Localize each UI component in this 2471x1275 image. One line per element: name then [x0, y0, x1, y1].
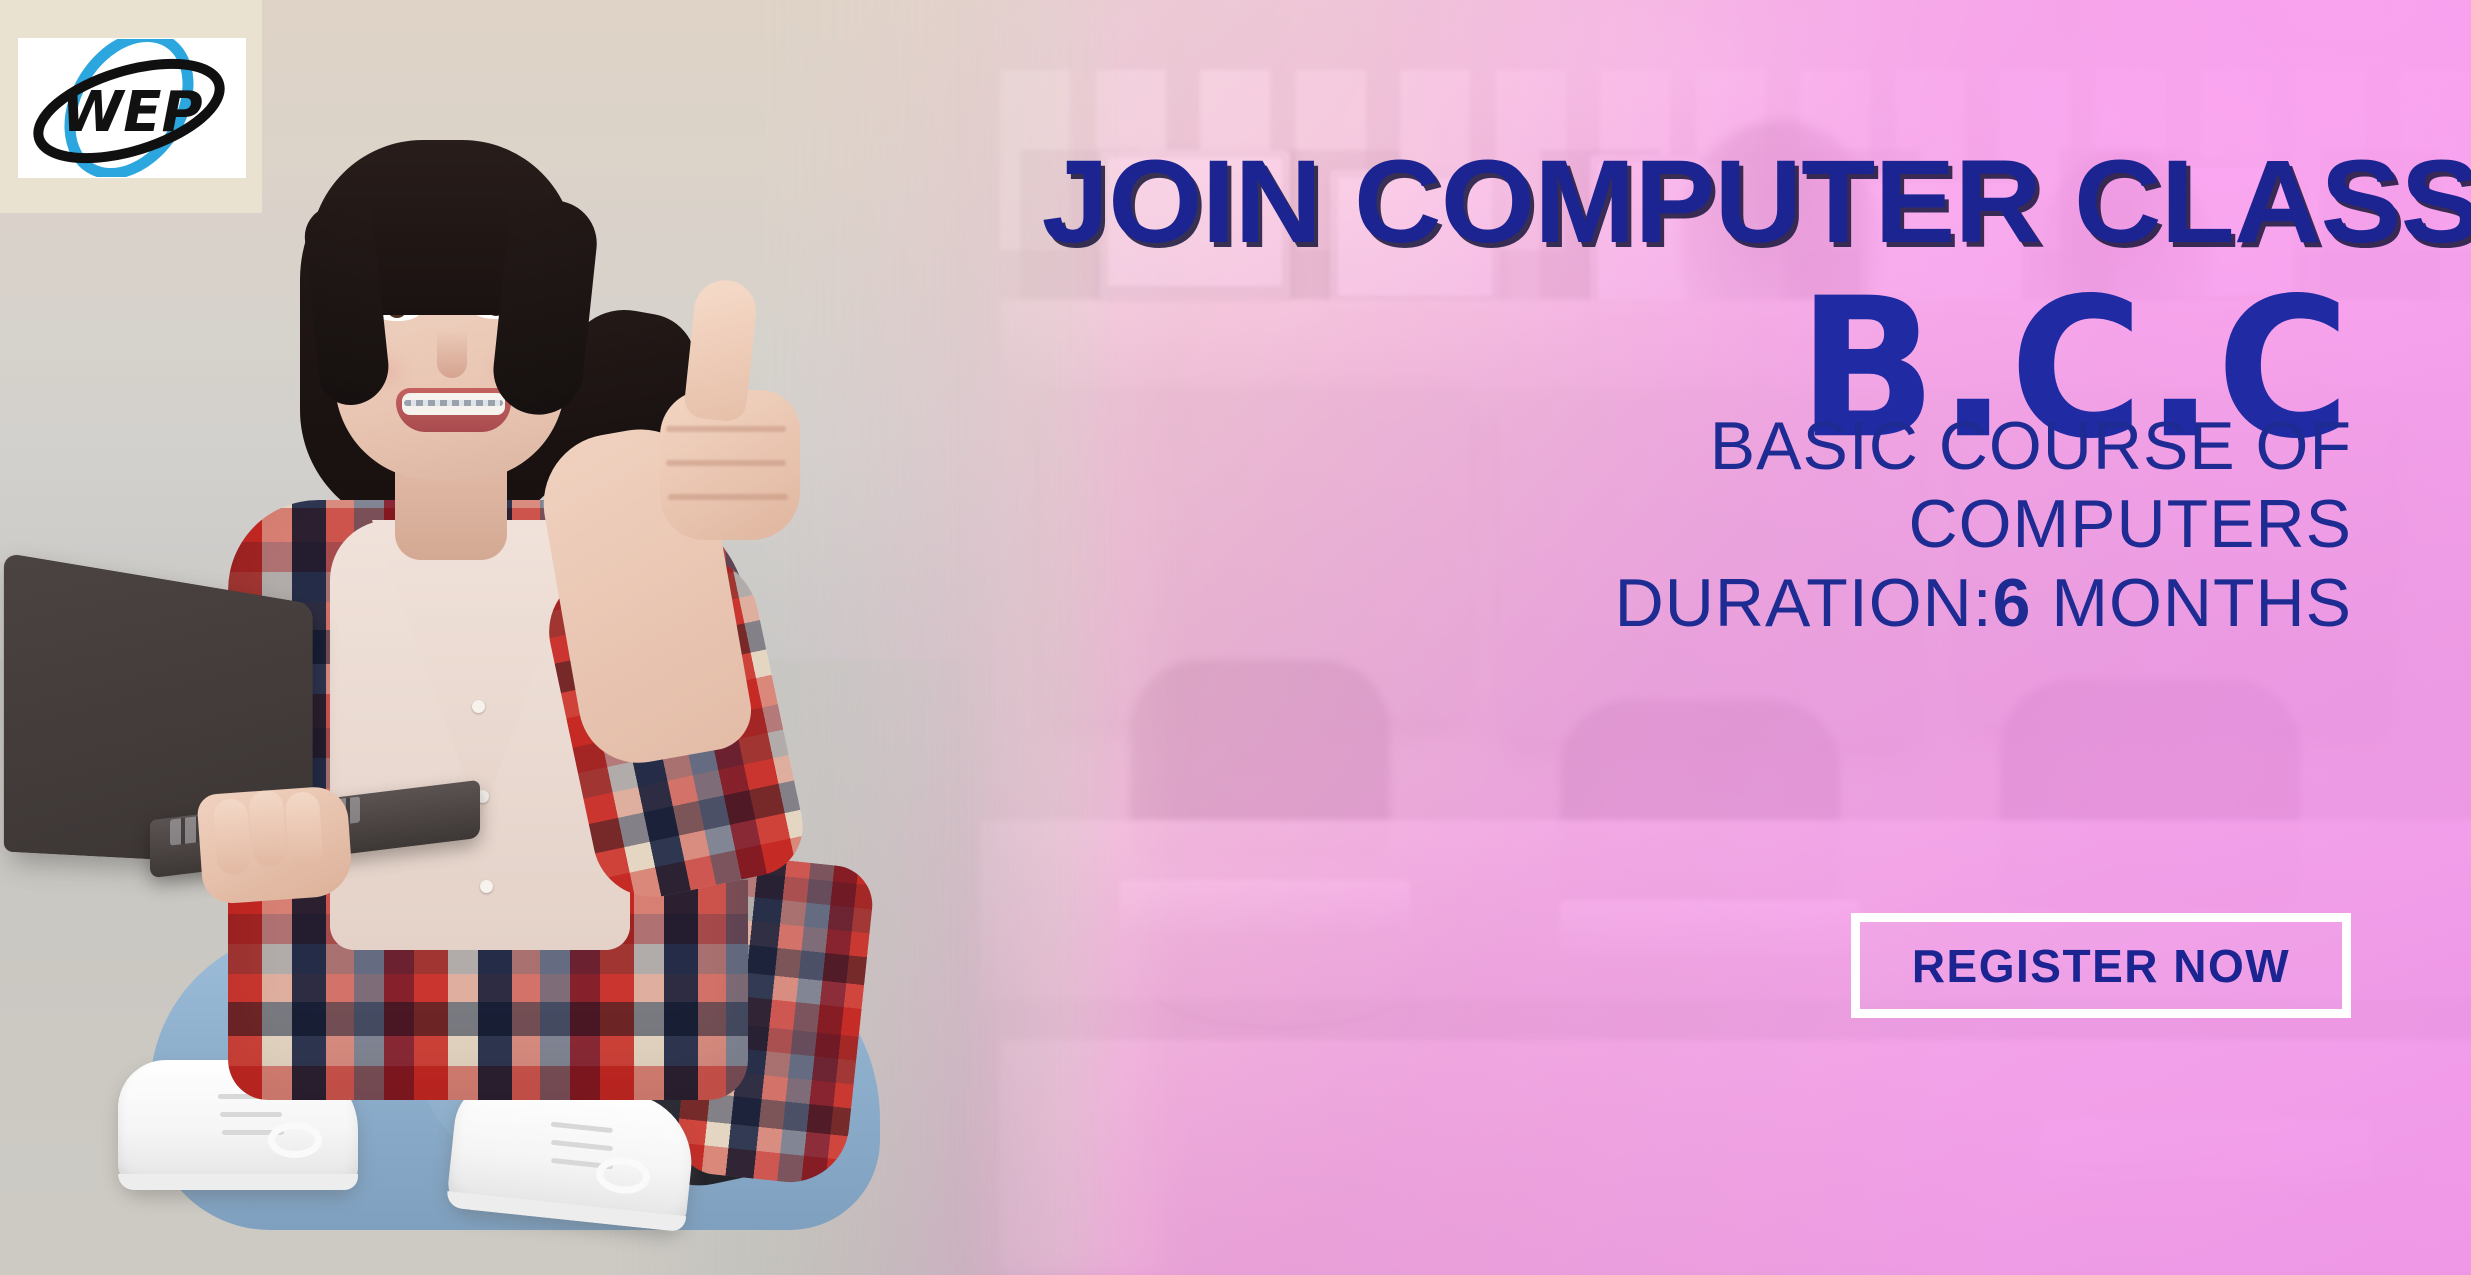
duration-line: DURATION:6 MONTHS [1180, 565, 2352, 643]
nose [437, 330, 467, 378]
svg-text:WEP: WEP [61, 80, 202, 145]
subtitle-line-1: BASIC COURSE OF [1180, 408, 2352, 486]
register-now-button[interactable]: REGISTER NOW [1851, 913, 2351, 1018]
smiling-mouth [396, 388, 511, 432]
page-title: JOIN COMPUTER CLASS [1042, 142, 2360, 262]
shirt-button [480, 880, 493, 893]
duration-label: DURATION: [1615, 565, 1993, 641]
wep-logo: WEP [18, 38, 246, 178]
logo-plate: WEP [0, 0, 262, 213]
braces [404, 400, 503, 406]
duration-value: 6 [1993, 565, 2032, 641]
promo-banner: WEP JOIN COMPUTER CLASS B.C.C BASIC COUR… [0, 0, 2471, 1275]
duration-unit: MONTHS [2051, 565, 2352, 641]
shirt-button [472, 700, 485, 713]
hand-holding-laptop [196, 785, 353, 905]
course-description: BASIC COURSE OF COMPUTERS DURATION:6 MON… [1180, 408, 2352, 643]
subtitle-line-2: COMPUTERS [1180, 486, 2352, 564]
register-now-label: REGISTER NOW [1912, 939, 2290, 993]
wep-logo-icon: WEP [19, 39, 245, 177]
